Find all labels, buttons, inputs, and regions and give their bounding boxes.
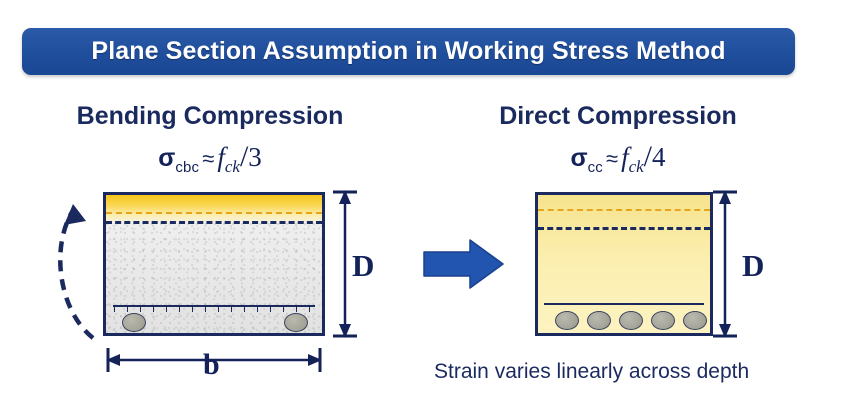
rebar-dot	[651, 311, 675, 330]
strain-caption: Strain varies linearly across depth	[434, 360, 834, 384]
heading-bending-compression: Bending Compression	[40, 102, 380, 131]
direct-compression-beam	[535, 192, 713, 336]
depth-label-right: D	[742, 248, 764, 284]
sigma-subscript-right: cc	[588, 159, 603, 176]
approx-symbol-right: ≈	[603, 146, 621, 171]
curved-dashed-arrow	[60, 204, 93, 338]
fck-symbol-left: f	[217, 142, 225, 172]
compression-stress-band	[106, 195, 322, 223]
fck-subscript-left: ck	[225, 157, 240, 176]
sigma-symbol-right: σ	[570, 144, 587, 172]
right-block-arrow	[424, 240, 503, 288]
formula-direct-compression: σcc≈fck/4	[448, 140, 788, 177]
page-title: Plane Section Assumption in Working Stre…	[91, 37, 725, 66]
depth-dimension-right	[713, 190, 737, 338]
rebar-dot	[555, 311, 579, 330]
sigma-subscript-left: cbc	[175, 159, 199, 176]
approx-symbol-left: ≈	[199, 146, 217, 171]
fck-symbol-right: f	[621, 142, 629, 172]
rebar-dot	[284, 313, 308, 332]
denominator-left: 3	[248, 142, 262, 172]
divider-right: /	[644, 140, 652, 173]
heading-direct-compression: Direct Compression	[448, 102, 788, 131]
formula-bending-compression: σcbc≈fck/3	[40, 140, 380, 177]
width-label-left: b	[203, 348, 220, 382]
rebar-dot	[619, 311, 643, 330]
denominator-right: 4	[652, 142, 666, 172]
rebar-dot	[683, 311, 707, 330]
compression-gold-dashed-line	[106, 212, 322, 214]
stirrup-ticks	[114, 306, 314, 312]
diagram-canvas: Plane Section Assumption in Working Stre…	[0, 0, 847, 412]
top-gold-dashed-line	[538, 209, 710, 211]
title-banner: Plane Section Assumption in Working Stre…	[22, 28, 795, 75]
fck-subscript-right: ck	[629, 157, 644, 176]
neutral-axis-dashed-line-right	[538, 227, 710, 230]
neutral-axis-dashed-line-left	[106, 221, 322, 224]
rebar-dot	[587, 311, 611, 330]
sigma-symbol-left: σ	[158, 144, 175, 172]
bending-compression-beam	[103, 192, 325, 336]
rebar-level-line-right	[544, 303, 704, 305]
depth-label-left: D	[352, 248, 374, 284]
rebar-dot	[122, 313, 146, 332]
